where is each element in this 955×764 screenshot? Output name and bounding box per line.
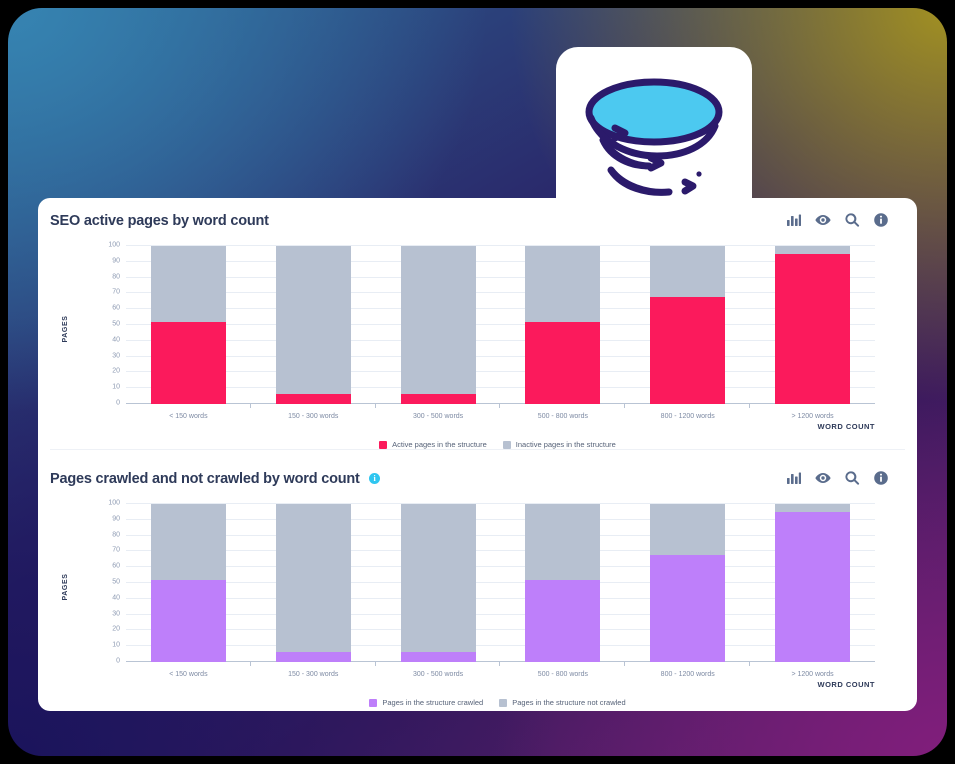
- bar-segment-inactive[interactable]: [525, 246, 600, 322]
- y-tick-label: 20: [112, 368, 120, 375]
- dashboard-panel: SEO active pages by word count PAGES 0: [38, 198, 917, 711]
- legend-label: Pages in the structure not crawled: [512, 698, 625, 707]
- bar-slot[interactable]: [126, 504, 251, 662]
- bar-segment-active[interactable]: [525, 580, 600, 662]
- y-tick-label: 50: [112, 579, 120, 586]
- legend-item[interactable]: Active pages in the structure: [379, 440, 487, 449]
- legend-label: Active pages in the structure: [392, 440, 487, 449]
- bar-segment-inactive[interactable]: [401, 246, 476, 394]
- legend-swatch: [503, 441, 511, 449]
- bar-stack[interactable]: [151, 246, 226, 404]
- bar-slot[interactable]: [750, 246, 875, 404]
- bar-stack[interactable]: [401, 504, 476, 662]
- bar-segment-inactive[interactable]: [401, 504, 476, 652]
- bar-stack[interactable]: [775, 246, 850, 404]
- bar-stack[interactable]: [775, 504, 850, 662]
- bar-segment-inactive[interactable]: [775, 504, 850, 512]
- eye-icon[interactable]: [815, 470, 831, 486]
- x-axis-label: WORD COUNT: [818, 422, 876, 431]
- y-axis-label: PAGES: [62, 574, 69, 601]
- y-tick-label: 40: [112, 336, 120, 343]
- x-tick-label: 300 - 500 words: [376, 413, 501, 420]
- y-tick-label: 0: [116, 658, 120, 665]
- y-tick-label: 60: [112, 305, 120, 312]
- bar-segment-inactive[interactable]: [775, 246, 850, 254]
- bar-stack[interactable]: [401, 246, 476, 404]
- x-tick-label: 150 - 300 words: [251, 671, 376, 678]
- bar-slot[interactable]: [750, 504, 875, 662]
- x-tick-label: 500 - 800 words: [500, 413, 625, 420]
- legend-item[interactable]: Pages in the structure not crawled: [499, 698, 625, 707]
- page-title: Pages crawled and not crawled by word co…: [50, 471, 360, 487]
- legend-item[interactable]: Inactive pages in the structure: [503, 440, 616, 449]
- y-tick-label: 30: [112, 610, 120, 617]
- y-tick-label: 50: [112, 321, 120, 328]
- bar-chart-icon[interactable]: [786, 212, 802, 228]
- y-tick-label: 20: [112, 626, 120, 633]
- chart-card-pages-crawled: Pages crawled and not crawled by word co…: [38, 456, 917, 707]
- bar-slot[interactable]: [376, 246, 501, 404]
- x-axis-ticks: < 150 words150 - 300 words300 - 500 word…: [126, 671, 875, 678]
- page-title: SEO active pages by word count: [50, 213, 269, 229]
- plot-area-pages-crawled: PAGES 0102030405060708090100 < 150 words…: [38, 498, 879, 676]
- y-tick-label: 60: [112, 563, 120, 570]
- bar-segment-inactive[interactable]: [276, 504, 351, 652]
- chart-legend: Pages in the structure crawledPages in t…: [38, 698, 917, 707]
- x-tick-label: > 1200 words: [750, 413, 875, 420]
- y-tick-label: 90: [112, 515, 120, 522]
- x-tick-label: > 1200 words: [750, 671, 875, 678]
- y-tick-label: 80: [112, 531, 120, 538]
- bar-slot[interactable]: [625, 504, 750, 662]
- bar-stack[interactable]: [151, 504, 226, 662]
- bar-segment-active[interactable]: [650, 555, 725, 662]
- bar-segment-active[interactable]: [401, 394, 476, 404]
- bar-segment-inactive[interactable]: [151, 246, 226, 322]
- x-tick-label: 300 - 500 words: [376, 671, 501, 678]
- y-tick-label: 70: [112, 289, 120, 296]
- legend-item[interactable]: Pages in the structure crawled: [369, 698, 483, 707]
- section-divider: [50, 449, 905, 450]
- bar-chart-icon[interactable]: [786, 470, 802, 486]
- bar-stack[interactable]: [276, 246, 351, 404]
- bar-series: [126, 246, 875, 404]
- y-tick-label: 10: [112, 642, 120, 649]
- bar-segment-inactive[interactable]: [650, 504, 725, 555]
- x-tick-label: 500 - 800 words: [500, 671, 625, 678]
- chart-header: Pages crawled and not crawled by word co…: [38, 456, 917, 498]
- y-tick-label: 10: [112, 384, 120, 391]
- y-axis-label: PAGES: [62, 316, 69, 343]
- bar-segment-active[interactable]: [775, 512, 850, 662]
- bar-segment-active[interactable]: [775, 254, 850, 404]
- title-info-icon[interactable]: i: [369, 473, 380, 484]
- bar-series: [126, 504, 875, 662]
- bar-slot[interactable]: [625, 246, 750, 404]
- bar-stack[interactable]: [276, 504, 351, 662]
- bar-slot[interactable]: [500, 504, 625, 662]
- x-tick-label: 800 - 1200 words: [625, 413, 750, 420]
- bar-segment-active[interactable]: [401, 652, 476, 662]
- bar-slot[interactable]: [251, 504, 376, 662]
- x-tick-label: 150 - 300 words: [251, 413, 376, 420]
- bar-stack[interactable]: [650, 504, 725, 662]
- bar-segment-active[interactable]: [151, 580, 226, 662]
- plot-area-seo-active-pages: PAGES 0102030405060708090100 < 150 words…: [38, 240, 879, 418]
- bar-segment-inactive[interactable]: [525, 504, 600, 580]
- bar-segment-active[interactable]: [525, 322, 600, 404]
- bar-stack[interactable]: [525, 504, 600, 662]
- eye-icon[interactable]: [815, 212, 831, 228]
- bar-slot[interactable]: [376, 504, 501, 662]
- y-tick-label: 100: [108, 242, 120, 249]
- magnifier-icon[interactable]: [844, 212, 860, 228]
- x-tick-label: 800 - 1200 words: [625, 671, 750, 678]
- legend-label: Pages in the structure crawled: [382, 698, 483, 707]
- legend-swatch: [499, 699, 507, 707]
- tornado-logo-icon: [579, 74, 729, 211]
- chart-legend: Active pages in the structureInactive pa…: [38, 440, 917, 449]
- chart-grid: 0102030405060708090100: [126, 246, 875, 404]
- chart-grid: 0102030405060708090100: [126, 504, 875, 662]
- chart-toolbar: [786, 470, 889, 486]
- chart-card-seo-active-pages: SEO active pages by word count PAGES 0: [38, 198, 917, 449]
- logo-card: [556, 47, 752, 237]
- bar-segment-active[interactable]: [151, 322, 226, 404]
- y-tick-label: 100: [108, 500, 120, 507]
- chart-header: SEO active pages by word count: [38, 198, 917, 240]
- bar-segment-active[interactable]: [650, 297, 725, 404]
- y-tick-label: 80: [112, 273, 120, 280]
- x-tick-label: < 150 words: [126, 413, 251, 420]
- bar-segment-inactive[interactable]: [650, 246, 725, 297]
- x-axis-ticks: < 150 words150 - 300 words300 - 500 word…: [126, 413, 875, 420]
- x-tick-label: < 150 words: [126, 671, 251, 678]
- bar-slot[interactable]: [500, 246, 625, 404]
- legend-label: Inactive pages in the structure: [516, 440, 616, 449]
- bar-stack[interactable]: [525, 246, 600, 404]
- magnifier-icon[interactable]: [844, 470, 860, 486]
- bar-stack[interactable]: [650, 246, 725, 404]
- y-tick-label: 90: [112, 257, 120, 264]
- bar-slot[interactable]: [126, 246, 251, 404]
- y-tick-label: 0: [116, 400, 120, 407]
- info-icon[interactable]: [873, 470, 889, 486]
- x-axis-label: WORD COUNT: [818, 680, 876, 689]
- legend-swatch: [369, 699, 377, 707]
- bar-segment-active[interactable]: [276, 652, 351, 662]
- y-tick-label: 70: [112, 547, 120, 554]
- chart-toolbar: [786, 212, 889, 228]
- bar-slot[interactable]: [251, 246, 376, 404]
- bar-segment-inactive[interactable]: [276, 246, 351, 394]
- bar-segment-active[interactable]: [276, 394, 351, 404]
- legend-swatch: [379, 441, 387, 449]
- y-tick-label: 40: [112, 594, 120, 601]
- info-icon[interactable]: [873, 212, 889, 228]
- y-tick-label: 30: [112, 352, 120, 359]
- bar-segment-inactive[interactable]: [151, 504, 226, 580]
